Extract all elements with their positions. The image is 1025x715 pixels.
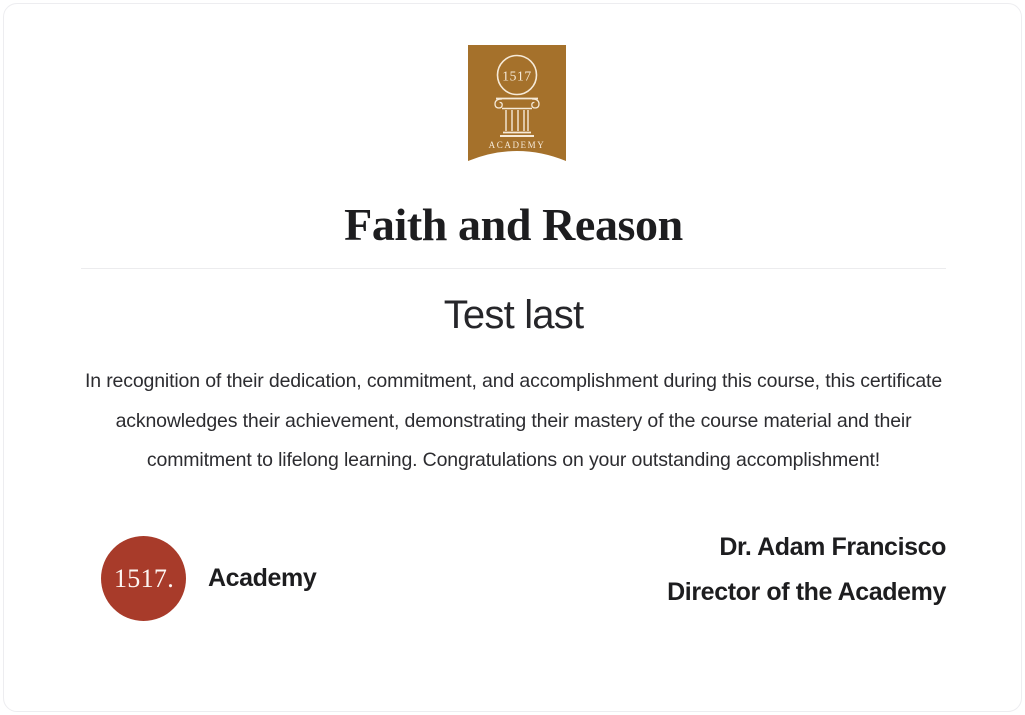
recipient-name: Test last bbox=[4, 290, 1022, 340]
issuer-label: Academy bbox=[208, 564, 316, 593]
divider bbox=[81, 268, 946, 269]
certificate-footer: 1517. Academy Dr. Adam Francisco Directo… bbox=[81, 525, 946, 630]
signature-block: Dr. Adam Francisco Director of the Acade… bbox=[667, 525, 946, 615]
academy-banner-logo: 1517 ACADEMY bbox=[468, 45, 566, 161]
signatory-role: Director of the Academy bbox=[667, 570, 946, 615]
certificate-card: 1517 ACADEMY Faith and Reason Test last … bbox=[3, 3, 1022, 712]
seal-year-label: 1517. bbox=[113, 566, 174, 592]
logo-year-text: 1517 bbox=[502, 69, 531, 84]
academy-seal-group: 1517. Academy bbox=[101, 536, 316, 621]
logo-wordmark-text: ACADEMY bbox=[489, 140, 546, 150]
academy-banner-logo-svg: 1517 ACADEMY bbox=[468, 45, 566, 161]
course-title: Faith and Reason bbox=[4, 196, 1022, 254]
signatory-name: Dr. Adam Francisco bbox=[667, 525, 946, 570]
citation-text: In recognition of their dedication, comm… bbox=[81, 362, 946, 481]
academy-seal-badge: 1517. bbox=[101, 536, 186, 621]
